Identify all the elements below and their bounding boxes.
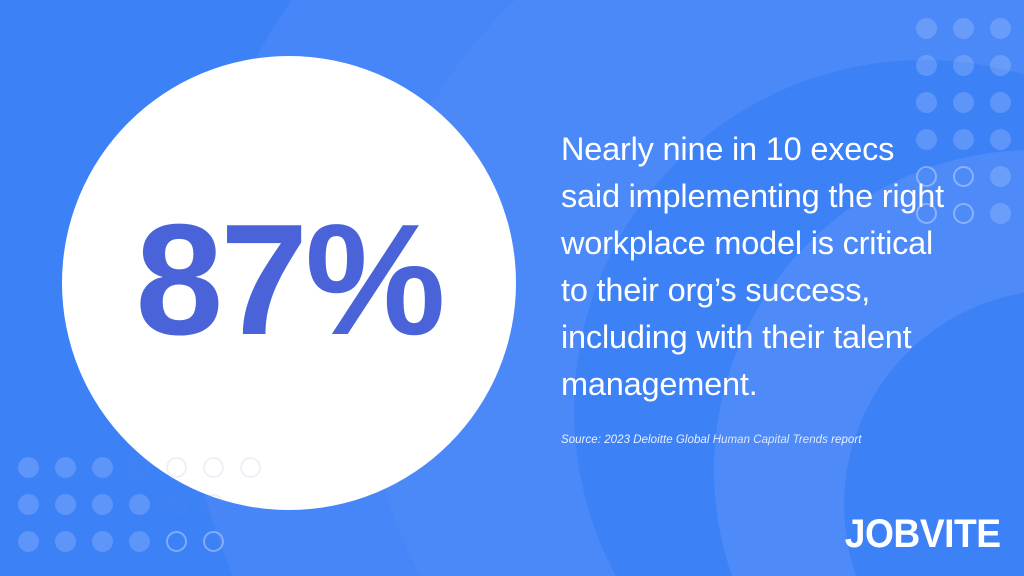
decorative-dot <box>990 166 1011 187</box>
decorative-dot <box>990 18 1011 39</box>
decorative-dot <box>990 55 1011 76</box>
source-suffix: report <box>828 434 862 446</box>
decorative-dot <box>92 494 113 515</box>
decorative-dot <box>990 92 1011 113</box>
copy-block: Nearly nine in 10 execs said implementin… <box>561 126 961 446</box>
source-citation: Source: 2023 Deloitte Global Human Capit… <box>561 434 961 446</box>
decorative-dot <box>990 203 1011 224</box>
decorative-dot <box>916 18 937 39</box>
stat-circle: 87% <box>62 56 516 510</box>
decorative-dot <box>953 92 974 113</box>
stat-value: 87% <box>135 201 442 359</box>
source-prefix: Source: 2023 Deloitte Global <box>561 434 713 446</box>
decorative-dot <box>55 457 76 478</box>
decorative-dot <box>166 531 187 552</box>
decorative-dot <box>240 531 261 552</box>
infographic-canvas: 87% Nearly nine in 10 execs said impleme… <box>0 0 1024 576</box>
decorative-dot <box>92 531 113 552</box>
decorative-dot <box>166 494 187 515</box>
decorative-dot <box>55 494 76 515</box>
decorative-dot <box>953 18 974 39</box>
decorative-dot <box>990 129 1011 150</box>
decorative-dot <box>203 531 224 552</box>
jobvite-logo: JOBVITE <box>845 514 1001 554</box>
decorative-dot <box>129 494 150 515</box>
decorative-dot <box>55 531 76 552</box>
decorative-dot <box>18 494 39 515</box>
decorative-dot <box>953 55 974 76</box>
decorative-dot <box>18 457 39 478</box>
source-report-title: Human Capital Trends <box>713 434 828 446</box>
decorative-dot <box>92 457 113 478</box>
decorative-dot <box>916 92 937 113</box>
decorative-dot <box>129 531 150 552</box>
decorative-dot <box>916 55 937 76</box>
quote-text: Nearly nine in 10 execs said implementin… <box>561 126 961 408</box>
decorative-dot <box>18 531 39 552</box>
